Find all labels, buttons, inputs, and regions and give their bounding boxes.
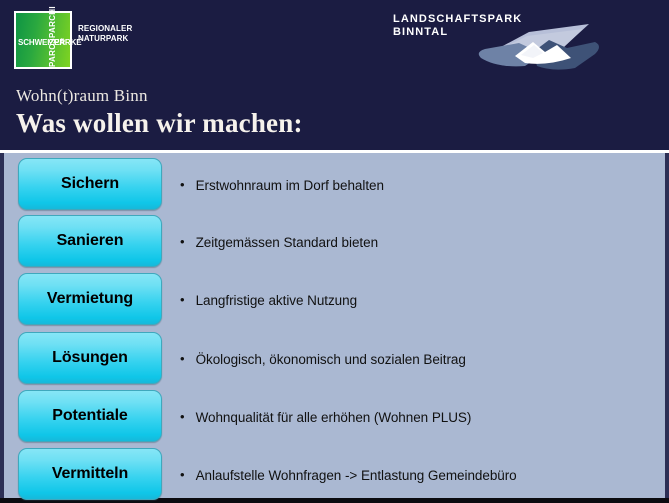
content-row: Potentiale • Wohnqualität für alle erhöh… xyxy=(4,388,665,446)
bullet-item: • Ökologisch, ökonomisch und sozialen Be… xyxy=(180,330,660,388)
bullet-text: Zeitgemässen Standard bieten xyxy=(196,235,378,250)
bullet-dot-icon: • xyxy=(180,178,185,191)
bullet-dot-icon: • xyxy=(180,410,185,423)
presentation-slide: SCHWEIZER PÄRKE PARCHI PARCS REGIONALER … xyxy=(0,0,669,503)
action-pill-label: Sanieren xyxy=(57,232,124,250)
action-pill-label: Sichern xyxy=(61,175,119,193)
slide-header: SCHWEIZER PÄRKE PARCHI PARCS REGIONALER … xyxy=(0,0,669,150)
parks-logo-green-box: SCHWEIZER PÄRKE PARCHI PARCS xyxy=(14,11,72,69)
slide-subtitle: Wohn(t)raum Binn xyxy=(16,86,148,106)
bullet-item: • Wohnqualität für alle erhöhen (Wohnen … xyxy=(180,388,660,446)
mountain-valley-graphic-icon xyxy=(471,22,603,78)
landschaftspark-binntal-logo: LANDSCHAFTSPARK BINNTAL xyxy=(393,10,603,78)
parks-logo-subtitle: REGIONALER NATURPARK xyxy=(78,24,132,44)
content-row: Sanieren • Zeitgemässen Standard bieten xyxy=(4,213,665,271)
bullet-dot-icon: • xyxy=(180,468,185,481)
content-row: Lösungen • Ökologisch, ökonomisch und so… xyxy=(4,330,665,388)
bullet-text: Anlaufstelle Wohnfragen -> Entlastung Ge… xyxy=(196,468,517,483)
action-pill-label: Potentiale xyxy=(52,407,127,425)
content-row: Sichern • Erstwohnraum im Dorf behalten xyxy=(4,156,665,214)
action-pill-potentiale[interactable]: Potentiale xyxy=(18,390,162,442)
panel-right-border xyxy=(665,153,669,498)
action-pill-sanieren[interactable]: Sanieren xyxy=(18,215,162,267)
action-pill-sichern[interactable]: Sichern xyxy=(18,158,162,210)
bullet-text: Ökologisch, ökonomisch und sozialen Beit… xyxy=(196,352,466,367)
bullet-text: Erstwohnraum im Dorf behalten xyxy=(196,178,384,193)
swiss-parks-logo: SCHWEIZER PÄRKE PARCHI PARCS xyxy=(14,11,76,73)
parks-logo-subtitle-line2: NATURPARK xyxy=(78,34,132,44)
action-pill-label: Vermitteln xyxy=(52,465,128,483)
parks-logo-subtitle-line1: REGIONALER xyxy=(78,24,132,34)
bullet-dot-icon: • xyxy=(180,235,185,248)
action-pill-label: Vermietung xyxy=(47,290,133,308)
bullet-item: • Langfristige aktive Nutzung xyxy=(180,271,660,329)
parks-logo-parcs-text: PARCS xyxy=(48,38,57,67)
bullet-dot-icon: • xyxy=(180,352,185,365)
action-pill-loesungen[interactable]: Lösungen xyxy=(18,332,162,384)
content-row: Vermitteln • Anlaufstelle Wohnfragen -> … xyxy=(4,446,665,503)
bullet-text: Wohnqualität für alle erhöhen (Wohnen PL… xyxy=(196,410,472,425)
parks-logo-parchi-text: PARCHI xyxy=(48,6,57,38)
bullet-text: Langfristige aktive Nutzung xyxy=(196,293,358,308)
action-pill-vermietung[interactable]: Vermietung xyxy=(18,273,162,325)
bullet-item: • Erstwohnraum im Dorf behalten xyxy=(180,156,660,214)
bullet-item: • Anlaufstelle Wohnfragen -> Entlastung … xyxy=(180,446,660,503)
action-pill-vermitteln[interactable]: Vermitteln xyxy=(18,448,162,500)
action-pill-label: Lösungen xyxy=(52,349,128,367)
page-title: Was wollen wir machen: xyxy=(16,108,303,139)
bullet-dot-icon: • xyxy=(180,293,185,306)
content-row: Vermietung • Langfristige aktive Nutzung xyxy=(4,271,665,329)
bullet-item: • Zeitgemässen Standard bieten xyxy=(180,213,660,271)
